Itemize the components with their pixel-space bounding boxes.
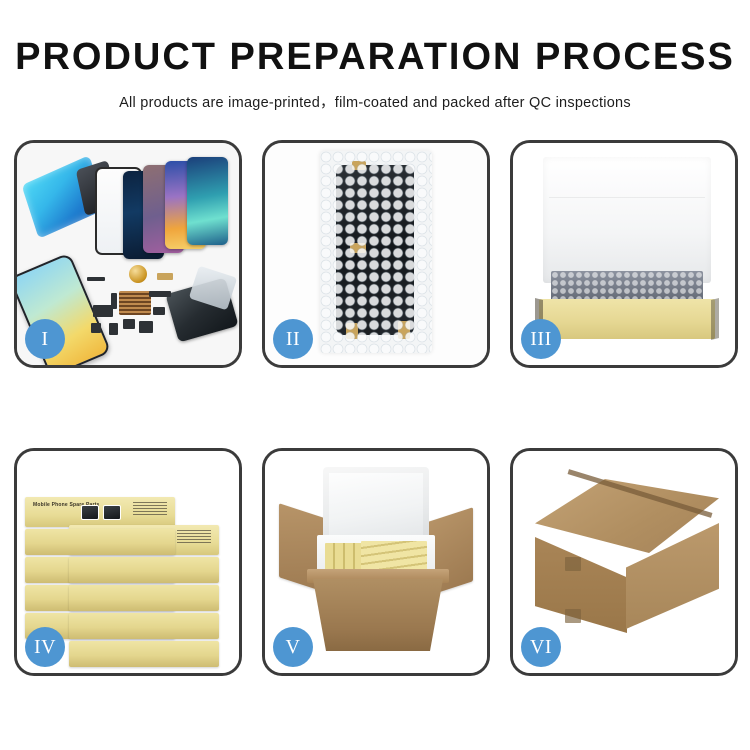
step-badge: I: [25, 319, 65, 359]
process-step-3[interactable]: III: [510, 140, 738, 368]
part-icon: [157, 273, 173, 280]
part-icon: [87, 277, 105, 281]
carton-tab-icon: [565, 609, 581, 623]
part-icon: [111, 293, 117, 309]
retail-box-icon: [25, 529, 175, 555]
retail-box-icon: [69, 613, 219, 639]
adhesive-film-icon: [21, 155, 106, 239]
part-icon: [139, 321, 153, 333]
part-icon: [149, 291, 171, 297]
process-step-grid: I II III Mobi: [14, 140, 736, 676]
part-icon: [123, 319, 135, 329]
foam-lid-icon: [323, 467, 429, 541]
box-text-lines: [133, 502, 167, 518]
retail-box-icon: [69, 641, 219, 667]
part-icon: [109, 323, 118, 335]
step-badge: II: [273, 319, 313, 359]
yellow-inner-box-icon: [539, 299, 715, 339]
step-badge: IV: [25, 627, 65, 667]
carton-tab-icon: [565, 557, 581, 571]
box-text-lines: [177, 530, 211, 546]
carton-left-panel: [535, 537, 627, 633]
box-artwork-icon: [103, 505, 121, 520]
step-badge: VI: [521, 627, 561, 667]
process-step-6[interactable]: VI: [510, 448, 738, 676]
part-icon: [153, 307, 165, 315]
page-subtitle: All products are image-printed，film-coat…: [0, 91, 750, 112]
step-badge: V: [273, 627, 313, 667]
part-icon: [91, 323, 101, 333]
foam-sheet-icon: [543, 157, 711, 283]
bubble-wrap-texture: [320, 151, 432, 353]
box-artwork-icon: [81, 505, 99, 520]
speaker-coil-icon: [129, 265, 147, 283]
chip-board-icon: [119, 291, 151, 315]
step-badge: III: [521, 319, 561, 359]
process-step-1[interactable]: I: [14, 140, 242, 368]
retail-box-icon: Mobile Phone Spare Parts: [25, 497, 175, 527]
process-step-4[interactable]: Mobile Phone Spare Parts Mobile Phone Sp…: [14, 448, 242, 676]
retail-box-icon: [69, 585, 219, 611]
part-icon: [93, 305, 113, 317]
page-title: PRODUCT PREPARATION PROCESS: [0, 38, 750, 76]
carton-front-panel: [313, 579, 443, 651]
page-header: PRODUCT PREPARATION PROCESS All products…: [0, 0, 750, 112]
process-step-2[interactable]: II: [262, 140, 490, 368]
process-step-5[interactable]: V: [262, 448, 490, 676]
phone-fan-group: [121, 157, 241, 257]
retail-box-icon: [69, 557, 219, 583]
phone-icon: [187, 157, 228, 245]
bubble-wrapped-screen-icon: [320, 151, 432, 353]
